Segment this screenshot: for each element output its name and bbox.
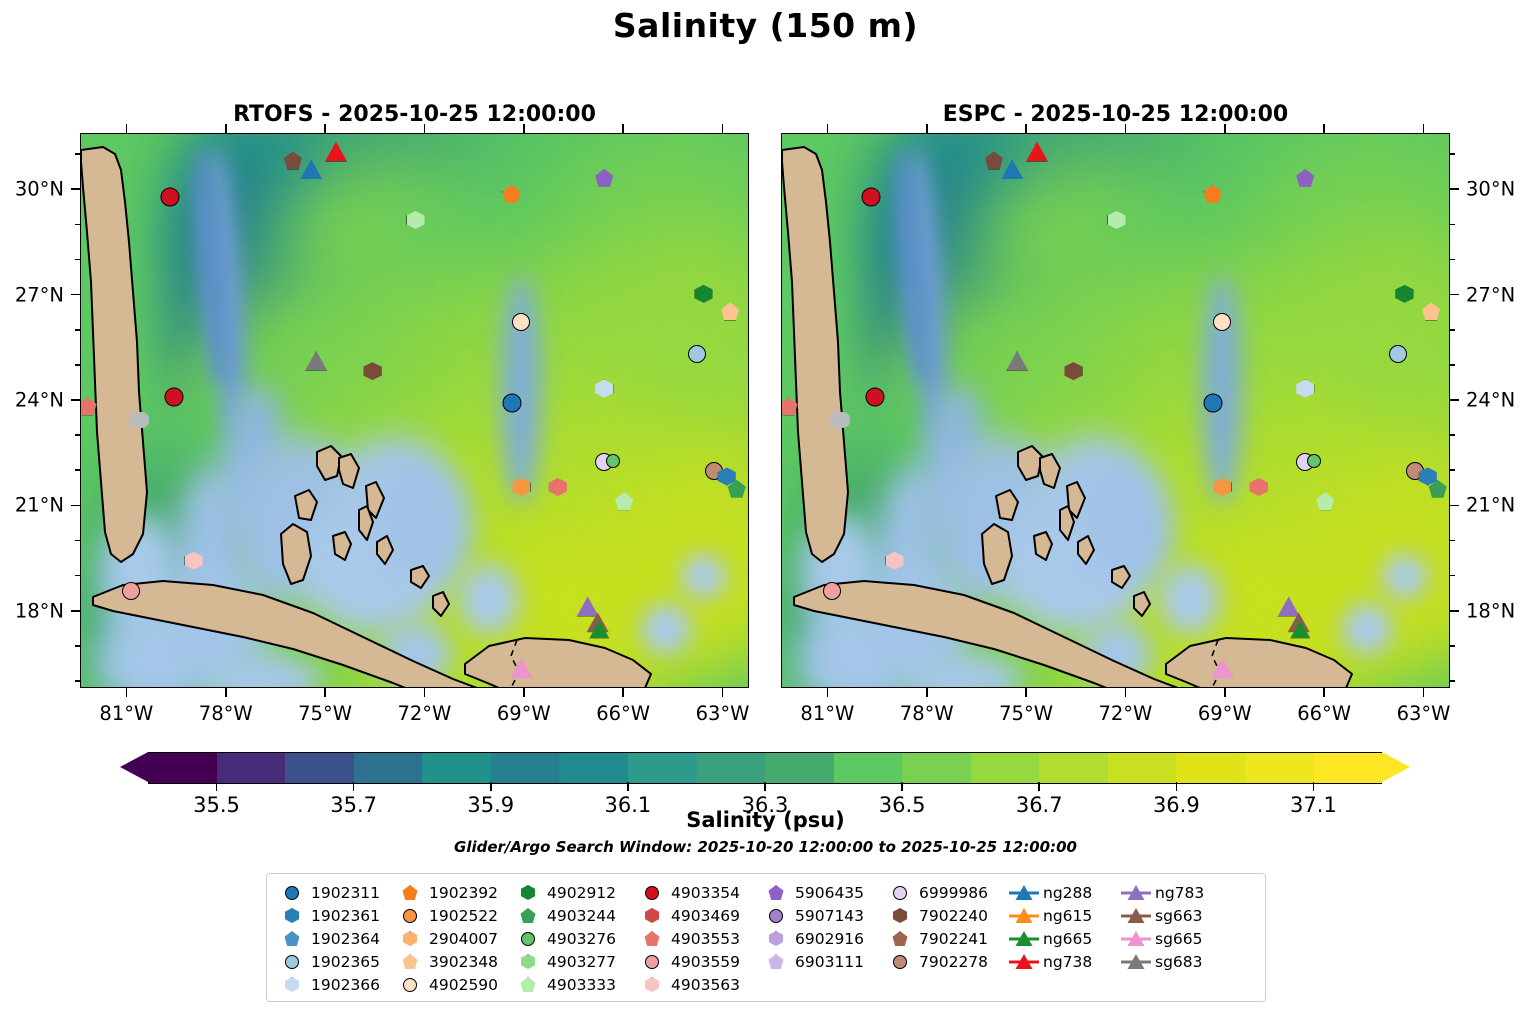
shelf-water bbox=[501, 274, 541, 504]
xtick-label: 75°W bbox=[298, 702, 352, 725]
legend-marker-ng615 bbox=[1009, 905, 1039, 926]
ytick-minor bbox=[1450, 153, 1455, 155]
legend-entry[interactable]: ng783 bbox=[1121, 882, 1233, 903]
xtick-top bbox=[1323, 124, 1325, 133]
ytick-major bbox=[71, 505, 80, 507]
legend-entry[interactable]: 4902590 bbox=[395, 974, 513, 995]
ytick-minor bbox=[1450, 434, 1455, 436]
colorbar-tick bbox=[901, 782, 903, 791]
legend-entry[interactable]: 1902365 bbox=[277, 951, 395, 972]
legend-marker-1902392 bbox=[395, 882, 425, 903]
colorbar-tick bbox=[1176, 782, 1178, 791]
legend-marker-5907143 bbox=[761, 905, 791, 926]
xtick-label: 72°W bbox=[397, 702, 451, 725]
legend-marker-4903276 bbox=[513, 928, 543, 949]
xtick-top bbox=[424, 124, 426, 133]
legend-entry[interactable]: 4903333 bbox=[513, 974, 637, 995]
colorbar-segment-8 bbox=[697, 753, 766, 783]
panel-espc: ESPC - 2025-10-25 12:00:00 bbox=[781, 133, 1450, 688]
xtick-major bbox=[225, 688, 227, 697]
legend-marker-4903469 bbox=[637, 905, 667, 926]
legend-marker-1902365 bbox=[277, 951, 307, 972]
ytick-label: 27°N bbox=[15, 283, 64, 306]
legend-entry[interactable]: ng665 bbox=[1009, 928, 1121, 949]
colorbar-segment-2 bbox=[285, 753, 354, 783]
haiti-dr-border bbox=[465, 634, 655, 688]
legend-label: 1902522 bbox=[425, 907, 498, 925]
xtick-major bbox=[827, 688, 829, 697]
xtick-label: 63°W bbox=[696, 702, 750, 725]
legend-marker-1902311 bbox=[277, 882, 307, 903]
ytick-label: 30°N bbox=[1466, 178, 1515, 201]
legend-entry[interactable]: 7902241 bbox=[885, 928, 1009, 949]
legend: 1902311190236119023641902365190236619023… bbox=[266, 873, 1266, 1002]
xtick-major bbox=[622, 688, 624, 697]
shelf-water bbox=[1202, 274, 1242, 504]
legend-entry[interactable]: 5907143 bbox=[761, 905, 885, 926]
ytick-minor bbox=[75, 153, 80, 155]
legend-entry[interactable]: 1902364 bbox=[277, 928, 395, 949]
landmass-florida bbox=[81, 142, 173, 562]
ytick-minor bbox=[1450, 575, 1455, 577]
legend-entry[interactable]: 4903276 bbox=[513, 928, 637, 949]
legend-entry[interactable]: 1902522 bbox=[395, 905, 513, 926]
xtick-label: 63°W bbox=[1397, 702, 1451, 725]
ytick-major bbox=[1450, 188, 1459, 190]
legend-label: 1902365 bbox=[307, 953, 380, 971]
xtick-major bbox=[1224, 688, 1226, 697]
landmass-bahama-2 bbox=[1040, 454, 1062, 492]
ytick-minor bbox=[1450, 469, 1455, 471]
legend-label: 1902366 bbox=[307, 976, 380, 994]
ytick-minor bbox=[75, 259, 80, 261]
legend-marker-ng738 bbox=[1009, 951, 1039, 972]
map-marker-1902311[interactable] bbox=[1203, 393, 1222, 412]
legend-marker-glyph bbox=[521, 908, 536, 923]
landmass-bahama-7 bbox=[1112, 566, 1132, 592]
landmass-bahama-8 bbox=[433, 592, 451, 620]
legend-label: 5907143 bbox=[791, 907, 864, 925]
ytick-minor bbox=[75, 540, 80, 542]
legend-marker-glyph bbox=[521, 932, 535, 946]
legend-entry[interactable]: 4903553 bbox=[637, 928, 761, 949]
legend-marker-ng783 bbox=[1121, 882, 1151, 903]
colorbar-segment-9 bbox=[765, 753, 834, 783]
legend-marker-glyph bbox=[769, 885, 784, 900]
legend-entry[interactable]: 1902361 bbox=[277, 905, 395, 926]
ytick-major bbox=[71, 610, 80, 612]
legend-marker-4903244 bbox=[513, 905, 543, 926]
ytick-minor bbox=[75, 224, 80, 226]
legend-label: 1902392 bbox=[425, 884, 498, 902]
legend-marker-glyph bbox=[521, 954, 535, 969]
legend-column-2: 49029124903244490327649032774903333 bbox=[513, 882, 637, 995]
legend-column-0: 19023111902361190236419023651902366 bbox=[277, 882, 395, 995]
legend-label: 6902916 bbox=[791, 930, 864, 948]
xtick-major bbox=[324, 688, 326, 697]
colorbar-segment-5 bbox=[491, 753, 560, 783]
colorbar-segment-15 bbox=[1176, 753, 1245, 783]
panel-title-rtofs: RTOFS - 2025-10-25 12:00:00 bbox=[80, 102, 749, 127]
colorbar-segment-13 bbox=[1039, 753, 1108, 783]
legend-label: 5906435 bbox=[791, 884, 864, 902]
xtick-top bbox=[126, 124, 128, 133]
xtick-label: 66°W bbox=[596, 702, 650, 725]
legend-marker-7902240 bbox=[885, 905, 915, 926]
legend-entry[interactable]: sg663 bbox=[1121, 905, 1233, 926]
legend-entry[interactable]: sg665 bbox=[1121, 928, 1233, 949]
ytick-major bbox=[71, 294, 80, 296]
ytick-minor bbox=[1450, 540, 1455, 542]
legend-marker-glyph bbox=[285, 908, 299, 923]
legend-label: 1902361 bbox=[307, 907, 380, 925]
landmass-bahama-6 bbox=[377, 536, 395, 566]
ytick-major bbox=[71, 188, 80, 190]
legend-entry[interactable]: 3902348 bbox=[395, 951, 513, 972]
legend-column-3: 49033544903469490355349035594903563 bbox=[637, 882, 761, 995]
ytick-major bbox=[71, 399, 80, 401]
map-marker-4903276[interactable] bbox=[1307, 454, 1321, 468]
legend-label: 4903563 bbox=[667, 976, 740, 994]
legend-entry[interactable]: 4902912 bbox=[513, 882, 637, 903]
legend-entry[interactable]: 4903469 bbox=[637, 905, 761, 926]
map-espc[interactable] bbox=[781, 133, 1450, 688]
legend-marker-6903111 bbox=[761, 951, 791, 972]
legend-label: ng738 bbox=[1039, 953, 1092, 971]
figure-root: Salinity (150 m) RTOFS - 2025-10-25 12:0… bbox=[0, 0, 1531, 1014]
ytick-label: 30°N bbox=[15, 178, 64, 201]
legend-label: 4903354 bbox=[667, 884, 740, 902]
legend-entry[interactable]: 4903244 bbox=[513, 905, 637, 926]
legend-marker-glyph bbox=[645, 955, 659, 969]
legend-label: 4903333 bbox=[543, 976, 616, 994]
xtick-label: 78°W bbox=[199, 702, 253, 725]
panel-rtofs: RTOFS - 2025-10-25 12:00:00 bbox=[80, 133, 749, 688]
legend-marker-4903333 bbox=[513, 974, 543, 995]
legend-marker-4902590 bbox=[395, 974, 425, 995]
legend-marker-glyph bbox=[285, 977, 299, 992]
colorbar-segment-16 bbox=[1245, 753, 1314, 783]
xtick-major bbox=[1025, 688, 1027, 697]
ytick-major bbox=[1450, 505, 1459, 507]
legend-marker-sg665 bbox=[1121, 928, 1151, 949]
legend-marker-1902364 bbox=[277, 928, 307, 949]
legend-marker-glyph bbox=[645, 908, 659, 923]
legend-marker-sg683 bbox=[1121, 951, 1151, 972]
legend-marker-glyph bbox=[645, 977, 659, 992]
shelf-water bbox=[681, 554, 726, 599]
legend-marker-glyph bbox=[403, 978, 417, 992]
xtick-major bbox=[1323, 688, 1325, 697]
legend-marker-glyph bbox=[769, 909, 783, 923]
ytick-minor bbox=[1450, 224, 1455, 226]
legend-entry[interactable]: 7902240 bbox=[885, 905, 1009, 926]
landmass-andros bbox=[281, 524, 313, 586]
legend-entry[interactable]: 6999986 bbox=[885, 882, 1009, 903]
legend-label: sg665 bbox=[1151, 930, 1203, 948]
map-marker-4902590[interactable] bbox=[1213, 313, 1231, 331]
legend-column-7: ng783sg663sg665sg683 bbox=[1121, 882, 1233, 995]
haiti-dr-border bbox=[1166, 634, 1356, 688]
map-marker-4903354[interactable] bbox=[161, 188, 180, 207]
legend-label: 3902348 bbox=[425, 953, 498, 971]
legend-column-5: 6999986790224079022417902278 bbox=[885, 882, 1009, 995]
colorbar-segment-14 bbox=[1108, 753, 1177, 783]
ytick-label: 24°N bbox=[15, 388, 64, 411]
ytick-label: 21°N bbox=[1466, 494, 1515, 517]
colorbar-tick bbox=[627, 782, 629, 791]
legend-entry[interactable]: 4903559 bbox=[637, 951, 761, 972]
colorbar-segment-11 bbox=[902, 753, 971, 783]
colorbar-ticks bbox=[120, 782, 1410, 792]
xtick-label: 69°W bbox=[1198, 702, 1252, 725]
legend-marker-glyph bbox=[403, 931, 417, 946]
xtick-label: 66°W bbox=[1297, 702, 1351, 725]
colorbar-tick bbox=[764, 782, 766, 791]
xtick-top bbox=[622, 124, 624, 133]
colorbar: 35.535.735.936.136.336.536.736.937.1 bbox=[120, 752, 1410, 782]
lake-okeechobee bbox=[129, 412, 149, 428]
legend-label: sg663 bbox=[1151, 907, 1203, 925]
ytick-minor bbox=[1450, 364, 1455, 366]
map-marker-4903559[interactable] bbox=[823, 582, 841, 600]
ytick-major bbox=[1450, 399, 1459, 401]
map-marker-4903354b[interactable] bbox=[865, 388, 884, 407]
landmass-cat-isl bbox=[359, 506, 375, 544]
legend-label: 7902241 bbox=[915, 930, 988, 948]
xtick-top bbox=[827, 124, 829, 133]
legend-label: 2904007 bbox=[425, 930, 498, 948]
panel-title-espc: ESPC - 2025-10-25 12:00:00 bbox=[781, 102, 1450, 127]
landmass-bahama-7 bbox=[411, 566, 431, 592]
ytick-minor bbox=[75, 469, 80, 471]
map-canvas-espc bbox=[782, 134, 1449, 687]
ytick-minor bbox=[75, 680, 80, 682]
legend-column-4: 5906435590714369029166903111 bbox=[761, 882, 885, 995]
legend-entry[interactable]: 4903563 bbox=[637, 974, 761, 995]
map-marker-4903559[interactable] bbox=[122, 582, 140, 600]
legend-marker-5906435 bbox=[761, 882, 791, 903]
search-window-caption: Glider/Argo Search Window: 2025-10-20 12… bbox=[0, 838, 1531, 856]
landmass-bahama-8 bbox=[1134, 592, 1152, 620]
legend-label: 4903276 bbox=[543, 930, 616, 948]
colorbar-tick bbox=[216, 782, 218, 791]
colorbar-under-arrow bbox=[120, 752, 148, 782]
legend-entry[interactable]: sg683 bbox=[1121, 951, 1233, 972]
legend-label: 1902311 bbox=[307, 884, 380, 902]
legend-marker-glyph bbox=[893, 908, 907, 923]
legend-marker-sg663 bbox=[1121, 905, 1151, 926]
legend-label: 4902590 bbox=[425, 976, 498, 994]
legend-marker-3902348 bbox=[395, 951, 425, 972]
legend-entry[interactable]: ng738 bbox=[1009, 951, 1121, 972]
xtick-top bbox=[225, 124, 227, 133]
xtick-top bbox=[1224, 124, 1226, 133]
colorbar-segment-10 bbox=[834, 753, 903, 783]
ytick-major bbox=[1450, 294, 1459, 296]
legend-marker-glyph bbox=[769, 954, 784, 969]
legend-marker-6902916 bbox=[761, 928, 791, 949]
legend-marker-4903563 bbox=[637, 974, 667, 995]
legend-label: sg683 bbox=[1151, 953, 1203, 971]
ytick-minor bbox=[1450, 645, 1455, 647]
legend-marker-glyph bbox=[403, 909, 417, 923]
colorbar-tick bbox=[490, 782, 492, 791]
legend-marker-glyph bbox=[403, 885, 418, 900]
ytick-label: 18°N bbox=[15, 599, 64, 622]
legend-marker-4903553 bbox=[637, 928, 667, 949]
legend-label: ng615 bbox=[1039, 907, 1092, 925]
map-rtofs[interactable] bbox=[80, 133, 749, 688]
colorbar-label: Salinity (psu) bbox=[0, 808, 1531, 832]
legend-entry[interactable]: ng615 bbox=[1009, 905, 1121, 926]
xtick-label: 75°W bbox=[999, 702, 1053, 725]
map-marker-1902311[interactable] bbox=[502, 393, 521, 412]
shelf-water bbox=[1382, 554, 1427, 599]
colorbar-segment-4 bbox=[422, 753, 491, 783]
ytick-minor bbox=[1450, 680, 1455, 682]
xtick-top bbox=[523, 124, 525, 133]
xtick-top bbox=[1423, 124, 1425, 133]
colorbar-tick bbox=[1313, 782, 1315, 791]
ytick-minor bbox=[75, 575, 80, 577]
lake-okeechobee bbox=[830, 412, 850, 428]
legend-marker-glyph bbox=[285, 931, 300, 946]
landmass-bahama-2 bbox=[339, 454, 361, 492]
legend-column-6: ng288ng615ng665ng738 bbox=[1009, 882, 1121, 995]
legend-label: ng665 bbox=[1039, 930, 1092, 948]
legend-marker-ng665 bbox=[1009, 928, 1039, 949]
legend-entry[interactable]: 6902916 bbox=[761, 928, 885, 949]
map-marker-4903276[interactable] bbox=[606, 454, 620, 468]
legend-marker-glyph bbox=[521, 977, 536, 992]
legend-marker-1902366 bbox=[277, 974, 307, 995]
legend-label: 4903277 bbox=[543, 953, 616, 971]
legend-marker-6999986 bbox=[885, 882, 915, 903]
colorbar-gradient bbox=[148, 752, 1382, 784]
map-marker-1902365[interactable] bbox=[688, 345, 706, 363]
xtick-top bbox=[722, 124, 724, 133]
legend-entry[interactable]: 1902366 bbox=[277, 974, 395, 995]
map-marker-4903354b[interactable] bbox=[164, 388, 183, 407]
xtick-label: 81°W bbox=[800, 702, 854, 725]
landmass-bahama-5 bbox=[1034, 532, 1054, 564]
legend-marker-glyph bbox=[285, 955, 299, 969]
colorbar-segment-17 bbox=[1314, 753, 1383, 783]
xtick-top bbox=[324, 124, 326, 133]
legend-label: 4903559 bbox=[667, 953, 740, 971]
legend-marker-glyph bbox=[893, 931, 908, 946]
legend-label: 6903111 bbox=[791, 953, 864, 971]
landmass-andros bbox=[982, 524, 1014, 586]
xtick-major bbox=[1423, 688, 1425, 697]
xtick-top bbox=[926, 124, 928, 133]
xtick-label: 78°W bbox=[900, 702, 954, 725]
ytick-label: 18°N bbox=[1466, 599, 1515, 622]
xtick-major bbox=[1125, 688, 1127, 697]
legend-marker-7902278 bbox=[885, 951, 915, 972]
legend-marker-2904007 bbox=[395, 928, 425, 949]
landmass-bahama-4 bbox=[295, 490, 319, 524]
legend-label: ng783 bbox=[1151, 884, 1204, 902]
map-marker-4903354[interactable] bbox=[862, 188, 881, 207]
legend-marker-1902361 bbox=[277, 905, 307, 926]
legend-column-1: 19023921902522290400739023484902590 bbox=[395, 882, 513, 995]
colorbar-segment-3 bbox=[354, 753, 423, 783]
colorbar-over-arrow bbox=[1382, 752, 1410, 782]
xtick-top bbox=[1125, 124, 1127, 133]
legend-marker-glyph bbox=[645, 886, 659, 900]
legend-entry[interactable]: ng288 bbox=[1009, 882, 1121, 903]
legend-entry[interactable]: 4903354 bbox=[637, 882, 761, 903]
colorbar-segment-6 bbox=[559, 753, 628, 783]
legend-columns: 1902311190236119023641902365190236619023… bbox=[277, 882, 1255, 995]
xtick-label: 72°W bbox=[1098, 702, 1152, 725]
legend-label: 7902278 bbox=[915, 953, 988, 971]
map-marker-4902590[interactable] bbox=[512, 313, 530, 331]
legend-marker-glyph bbox=[521, 885, 535, 900]
ytick-minor bbox=[75, 329, 80, 331]
legend-marker-glyph bbox=[893, 955, 907, 969]
legend-entry[interactable]: 7902278 bbox=[885, 951, 1009, 972]
xtick-label: 81°W bbox=[99, 702, 153, 725]
legend-marker-glyph bbox=[769, 931, 783, 946]
legend-marker-4902912 bbox=[513, 882, 543, 903]
legend-label: ng288 bbox=[1039, 884, 1092, 902]
legend-label: 4902912 bbox=[543, 884, 616, 902]
legend-marker-7902241 bbox=[885, 928, 915, 949]
legend-label: 4903469 bbox=[667, 907, 740, 925]
page-title: Salinity (150 m) bbox=[0, 6, 1531, 45]
map-marker-1902365[interactable] bbox=[1389, 345, 1407, 363]
legend-marker-glyph bbox=[893, 886, 907, 900]
ytick-label: 27°N bbox=[1466, 283, 1515, 306]
legend-entry[interactable]: 5906435 bbox=[761, 882, 885, 903]
legend-marker-glyph bbox=[285, 886, 299, 900]
colorbar-segment-7 bbox=[628, 753, 697, 783]
xtick-major bbox=[722, 688, 724, 697]
legend-marker-4903354 bbox=[637, 882, 667, 903]
colorbar-segment-12 bbox=[971, 753, 1040, 783]
ytick-label: 24°N bbox=[1466, 388, 1515, 411]
ytick-minor bbox=[1450, 329, 1455, 331]
landmass-bahama-5 bbox=[333, 532, 353, 564]
legend-label: 4903553 bbox=[667, 930, 740, 948]
legend-entry[interactable]: 1902392 bbox=[395, 882, 513, 903]
ytick-major bbox=[1450, 610, 1459, 612]
colorbar-segment-0 bbox=[148, 753, 217, 783]
landmass-cat-isl bbox=[1060, 506, 1076, 544]
xtick-major bbox=[424, 688, 426, 697]
legend-marker-ng288 bbox=[1009, 882, 1039, 903]
ytick-minor bbox=[1450, 259, 1455, 261]
legend-entry[interactable]: 1902311 bbox=[277, 882, 395, 903]
ytick-label: 21°N bbox=[15, 494, 64, 517]
ytick-minor bbox=[75, 645, 80, 647]
legend-entry[interactable]: 2904007 bbox=[395, 928, 513, 949]
xtick-major bbox=[126, 688, 128, 697]
colorbar-tick bbox=[1038, 782, 1040, 791]
legend-label: 4903244 bbox=[543, 907, 616, 925]
landmass-bahama-6 bbox=[1078, 536, 1096, 566]
legend-entry[interactable]: 4903277 bbox=[513, 951, 637, 972]
legend-entry[interactable]: 6903111 bbox=[761, 951, 885, 972]
legend-label: 6999986 bbox=[915, 884, 988, 902]
legend-marker-4903277 bbox=[513, 951, 543, 972]
colorbar-segment-1 bbox=[217, 753, 286, 783]
xtick-label: 69°W bbox=[497, 702, 551, 725]
colorbar-tick bbox=[353, 782, 355, 791]
